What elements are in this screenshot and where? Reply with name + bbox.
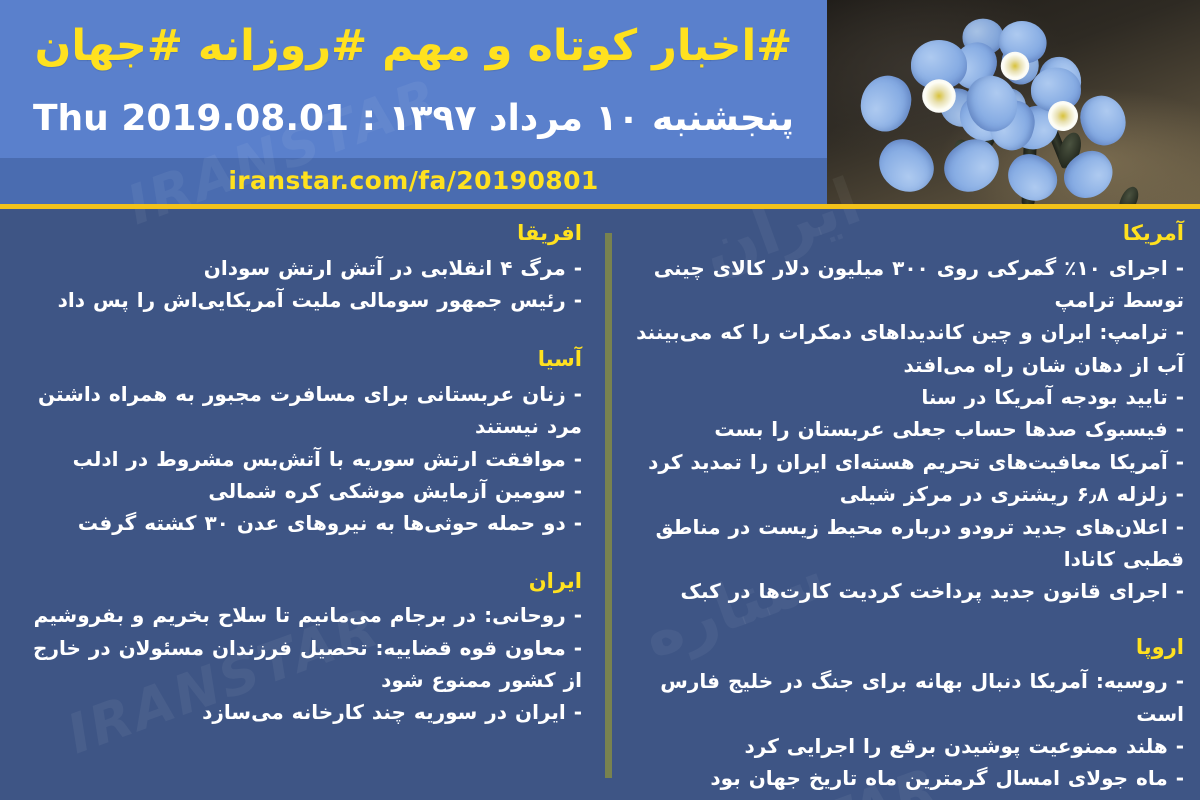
headline-item: - فیسبوک صدها حساب جعلی عربستان را بست (626, 413, 1184, 445)
section-oroupa: اروپا - روسیه: آمریکا دنبال بهانه برای ج… (626, 632, 1184, 795)
headline-item: - ماه جولای امسال گرمترین ماه تاریخ جهان… (626, 762, 1184, 794)
section-iran: ایران - روحانی: در برجام می‌مانیم تا سلا… (16, 566, 582, 729)
headline-item: - تایید بودجه آمریکا در سنا (626, 381, 1184, 413)
headline-item: - روسیه: آمریکا دنبال بهانه برای جنگ در … (626, 665, 1184, 730)
headline-item: - اجرای ۱۰٪ گمرکی روی ۳۰۰ میلیون دلار کا… (626, 252, 1184, 317)
flower-photo (827, 0, 1200, 205)
news-digest-poster: IRANSTAR ایران #اخبار کوتاه و مهم #روزان… (0, 0, 1200, 800)
column-divider (605, 233, 612, 778)
headline-item: - روحانی: در برجام می‌مانیم تا سلاح بخری… (16, 599, 582, 631)
section-title: افریقا (16, 218, 582, 250)
headline-item: - ترامپ: ایران و چین کاندیداهای دمکرات ر… (626, 316, 1184, 381)
headline-item: - ایران در سوریه چند کارخانه می‌سازد (16, 696, 582, 728)
headline-item: - اعلان‌های جدید ترودو درباره محیط زیست … (626, 511, 1184, 576)
poster-title: #اخبار کوتاه و مهم #روزانه #جهان (0, 22, 827, 71)
headline-item: - رئیس جمهور سومالی ملیت آمریکایی‌اش را … (16, 284, 582, 316)
poster-date: پنجشنبه ۱۰ مرداد ۱۳۹۷ : Thu 2019.08.01 (0, 98, 827, 139)
section-amrika: آمریکا - اجرای ۱۰٪ گمرکی روی ۳۰۰ میلیون … (626, 218, 1184, 608)
headline-item: - مرگ ۴ انقلابی در آتش ارتش سودان (16, 252, 582, 284)
flower-blossom (872, 29, 1006, 163)
headline-item: - آمریکا معافیت‌های تحریم هسته‌ای ایران … (626, 446, 1184, 478)
headline-item: - معاون قوه قضاییه: تحصیل فرزندان مسئولا… (16, 632, 582, 697)
headline-item: - موافقت ارتش سوریه با آتش‌بس مشروط در ا… (16, 443, 582, 475)
section-title: آسیا (16, 344, 582, 376)
headline-item: - سومین آزمایش موشکی کره شمالی (16, 475, 582, 507)
section-afriqa: افریقا - مرگ ۴ انقلابی در آتش ارتش سودان… (16, 218, 582, 316)
column-right: آمریکا - اجرای ۱۰٪ گمرکی روی ۳۰۰ میلیون … (620, 209, 1200, 797)
section-title: ایران (16, 566, 582, 598)
headline-item: - اجرای قانون جدید پرداخت کردیت کارت‌ها … (626, 575, 1184, 607)
headline-item: - دو حمله حوثی‌ها به نیروهای عدن ۳۰ کشته… (16, 507, 582, 539)
poster-url-link[interactable]: iranstar.com/fa/20190801 (0, 166, 827, 195)
headline-item: - زنان عربستانی برای مسافرت مجبور به همر… (16, 378, 582, 443)
news-content: IRANSTAR IRANSTAR ستاره آمریکا - اجرای ۱… (0, 209, 1200, 800)
section-title: آمریکا (626, 218, 1184, 250)
section-asia: آسیا - زنان عربستانی برای مسافرت مجبور ب… (16, 344, 582, 539)
column-left: افریقا - مرگ ۴ انقلابی در آتش ارتش سودان… (0, 209, 596, 731)
section-title: اروپا (626, 632, 1184, 664)
headline-item: - هلند ممنوعیت پوشیدن برقع را اجرایی کرد (626, 730, 1184, 762)
headline-item: - زلزله ۶٫۸ ریشتری در مرکز شیلی (626, 478, 1184, 510)
poster-header: IRANSTAR ایران #اخبار کوتاه و مهم #روزان… (0, 0, 1200, 205)
